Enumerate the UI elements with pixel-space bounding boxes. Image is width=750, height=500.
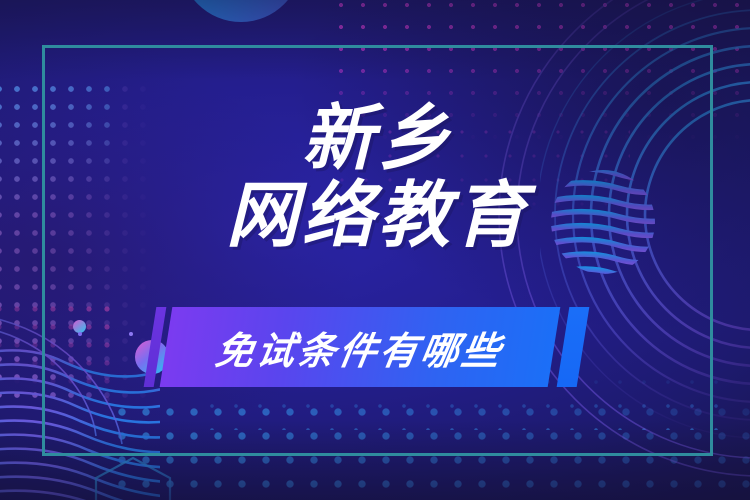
subtitle-banner: 免试条件有哪些 — [0, 304, 750, 390]
subtitle-text: 免试条件有哪些 — [160, 307, 561, 387]
poster-banner: 新乡 网络教育 免试条件有哪些 — [0, 0, 750, 500]
subtitle-accent-right — [557, 307, 590, 387]
decorative-frame-border — [42, 45, 713, 456]
